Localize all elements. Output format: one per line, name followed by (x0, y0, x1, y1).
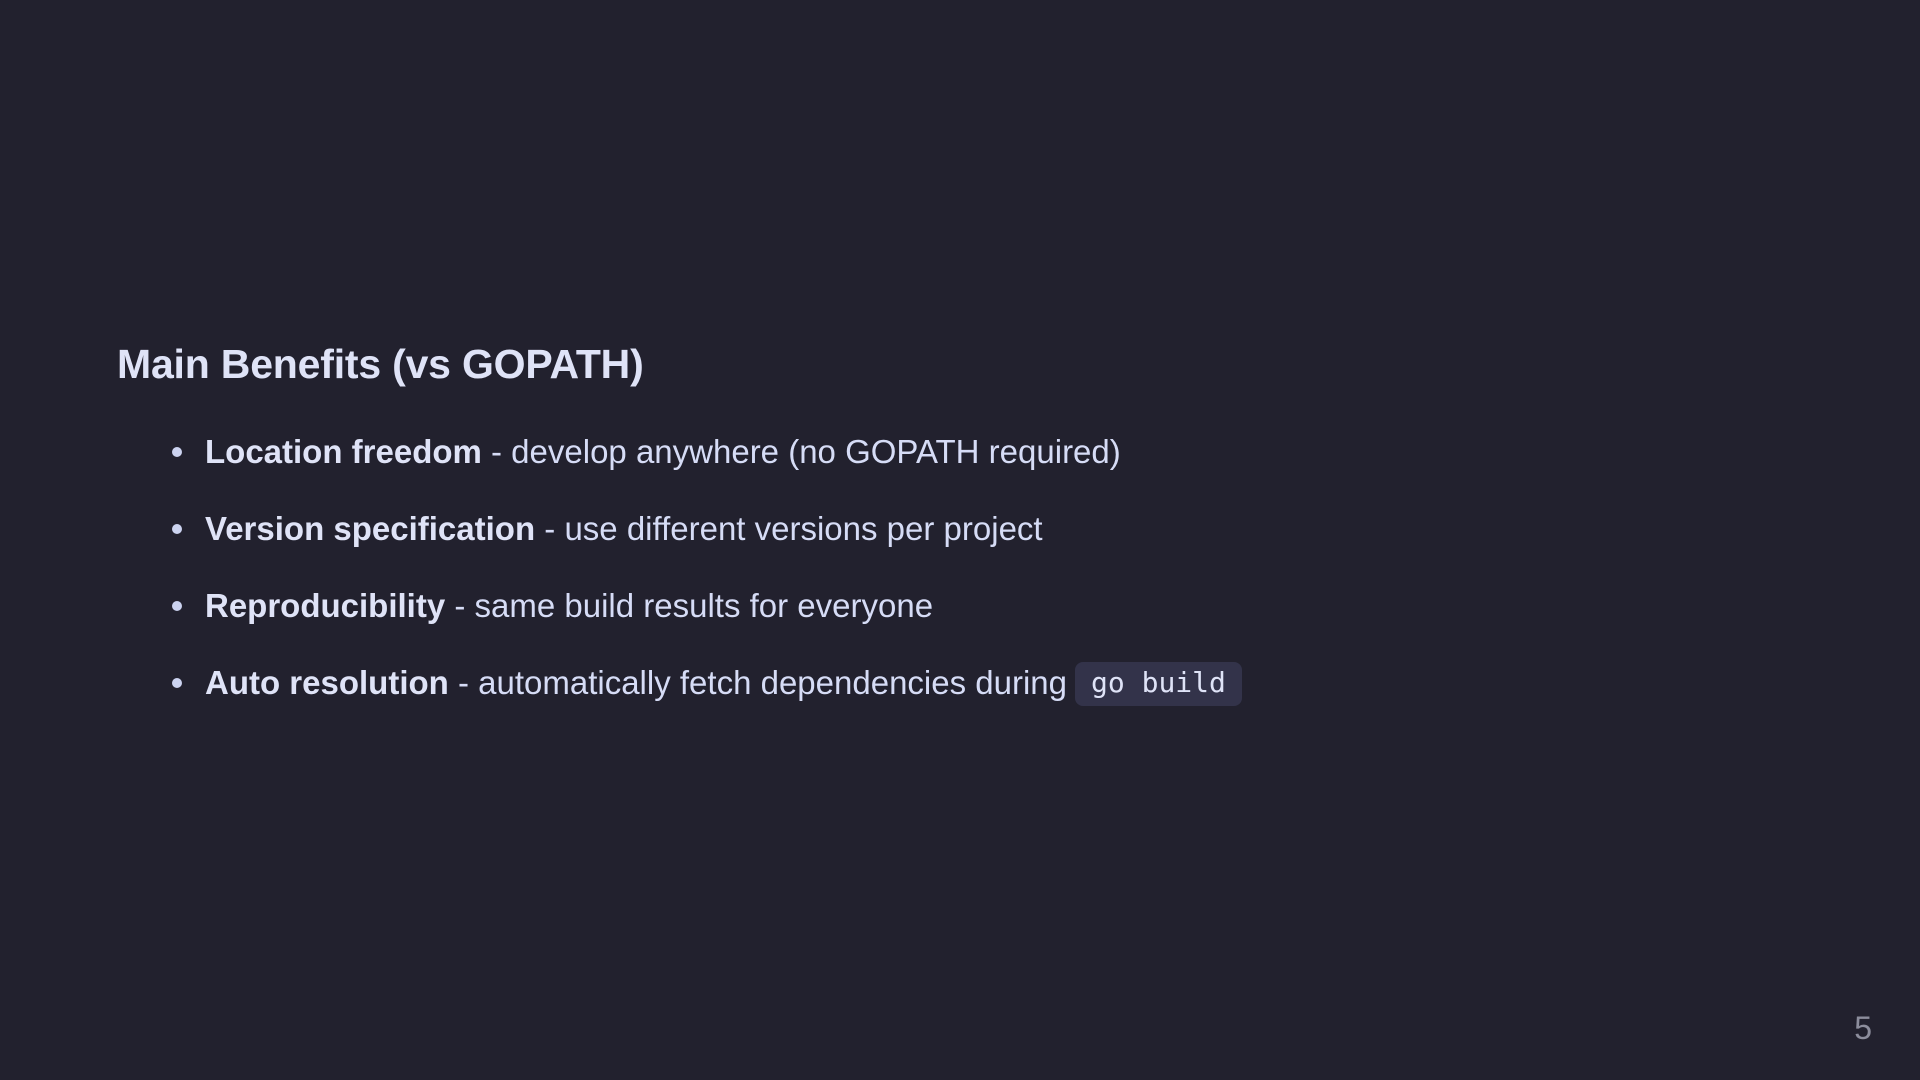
list-item: Reproducibility - same build results for… (117, 567, 1817, 644)
bullet-dot-icon (172, 447, 182, 457)
bullet-dot-icon (172, 678, 182, 688)
benefits-list: Location freedom - develop anywhere (no … (117, 413, 1817, 721)
list-item: Version specification - use different ve… (117, 490, 1817, 567)
page-number: 5 (1854, 1012, 1872, 1044)
list-item-term: Location freedom (205, 433, 482, 470)
slide-content: Main Benefits (vs GOPATH) Location freed… (117, 340, 1817, 721)
list-item-description: - same build results for everyone (445, 587, 933, 624)
bullet-dot-icon (172, 524, 182, 534)
list-item-description: - automatically fetch dependencies durin… (449, 664, 1067, 701)
list-item-description: - use different versions per project (535, 510, 1042, 547)
list-item: Auto resolution - automatically fetch de… (117, 644, 1817, 721)
list-item-term: Version specification (205, 510, 535, 547)
list-item-description: - develop anywhere (no GOPATH required) (482, 433, 1121, 470)
slide: Main Benefits (vs GOPATH) Location freed… (0, 0, 1920, 1080)
page-title: Main Benefits (vs GOPATH) (117, 340, 1817, 389)
list-item-term: Reproducibility (205, 587, 445, 624)
bullet-dot-icon (172, 601, 182, 611)
inline-code-go-build: go build (1075, 662, 1242, 706)
list-item-term: Auto resolution (205, 664, 449, 701)
list-item: Location freedom - develop anywhere (no … (117, 413, 1817, 490)
